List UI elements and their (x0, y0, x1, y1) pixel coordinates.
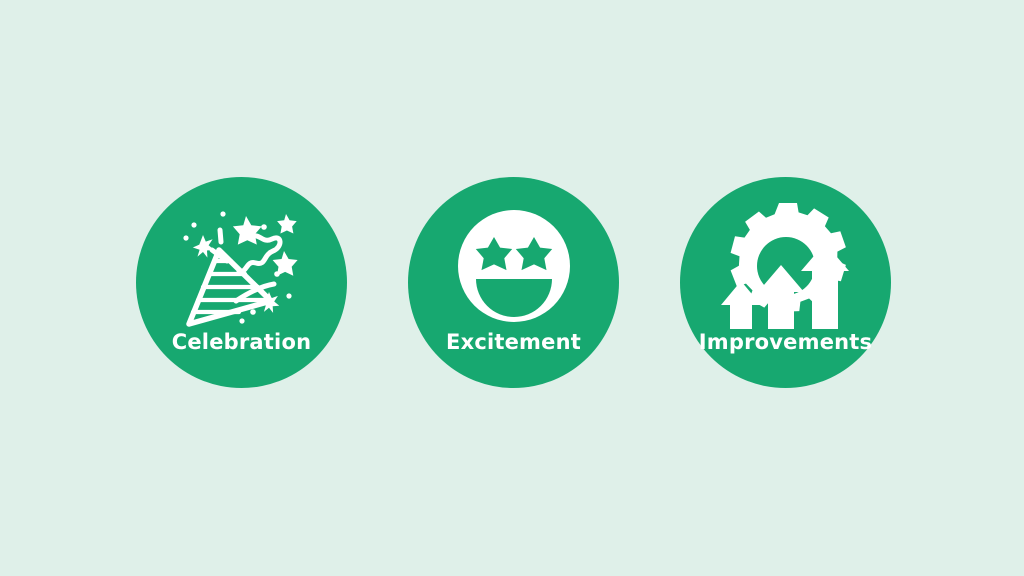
badge-celebration[interactable]: Celebration (136, 177, 347, 388)
star-eyed-smiley-face-icon (408, 191, 619, 341)
badge-excitement[interactable]: Excitement (408, 177, 619, 388)
badge-label: Excitement (408, 329, 619, 355)
badge-label: Celebration (136, 329, 347, 355)
slide-canvas: Celebration Excitement (0, 0, 1024, 576)
gear-with-rising-arrows-icon (680, 191, 891, 341)
party-popper-confetti-icon (136, 191, 347, 341)
badge-label: Improvements (680, 329, 891, 355)
badge-improvements[interactable]: Improvements (680, 177, 891, 388)
